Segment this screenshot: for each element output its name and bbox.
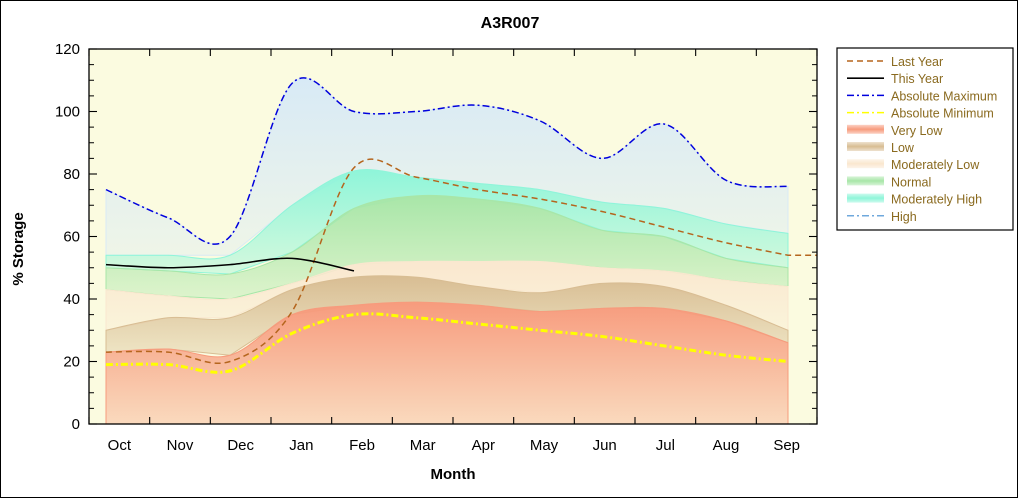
storage-area-chart: 020406080100120OctNovDecJanFebMarAprMayJ…: [1, 1, 1019, 499]
legend-item-label: Absolute Minimum: [891, 107, 994, 121]
legend-swatch-icon: [847, 125, 884, 134]
legend-item-label: Moderately Low: [891, 158, 980, 172]
legend-item-label: Normal: [891, 175, 931, 189]
legend-item-label: High: [891, 210, 917, 224]
y-tick-label: 100: [55, 104, 80, 121]
legend-swatch-icon: [847, 159, 884, 168]
legend-item-label: Last Year: [891, 55, 943, 69]
y-tick-label: 40: [63, 291, 80, 308]
x-tick-label-jun: Jun: [593, 437, 617, 454]
x-tick-label-oct: Oct: [108, 437, 132, 454]
x-tick-label-mar: Mar: [410, 437, 436, 454]
y-tick-label: 60: [63, 229, 80, 246]
x-tick-label-jan: Jan: [289, 437, 313, 454]
y-axis-title: % Storage: [10, 212, 27, 285]
legend[interactable]: Last YearThis YearAbsolute MaximumAbsolu…: [837, 48, 1013, 230]
legend-item-label: Absolute Maximum: [891, 89, 997, 103]
y-tick-label: 0: [72, 416, 80, 433]
x-tick-label-sep: Sep: [773, 437, 800, 454]
legend-swatch-icon: [847, 142, 884, 151]
legend-item-label: Moderately High: [891, 193, 982, 207]
x-tick-label-feb: Feb: [349, 437, 375, 454]
legend-swatch-icon: [847, 194, 884, 203]
legend-item-label: Very Low: [891, 124, 943, 138]
chart-window: 020406080100120OctNovDecJanFebMarAprMayJ…: [0, 0, 1018, 498]
legend-item-label: Low: [891, 141, 915, 155]
x-tick-label-may: May: [530, 437, 559, 454]
page-title: A3R007: [481, 15, 540, 32]
y-tick-label: 80: [63, 166, 80, 183]
legend-item-label: This Year: [891, 72, 943, 86]
x-tick-label-nov: Nov: [167, 437, 194, 454]
y-tick-label: 20: [63, 354, 80, 371]
x-tick-label-dec: Dec: [227, 437, 254, 454]
legend-swatch-icon: [847, 176, 884, 185]
x-tick-label-aug: Aug: [713, 437, 740, 454]
x-axis-title: Month: [431, 466, 476, 483]
y-tick-label: 120: [55, 41, 80, 58]
x-tick-label-apr: Apr: [472, 437, 495, 454]
x-tick-label-jul: Jul: [656, 437, 675, 454]
